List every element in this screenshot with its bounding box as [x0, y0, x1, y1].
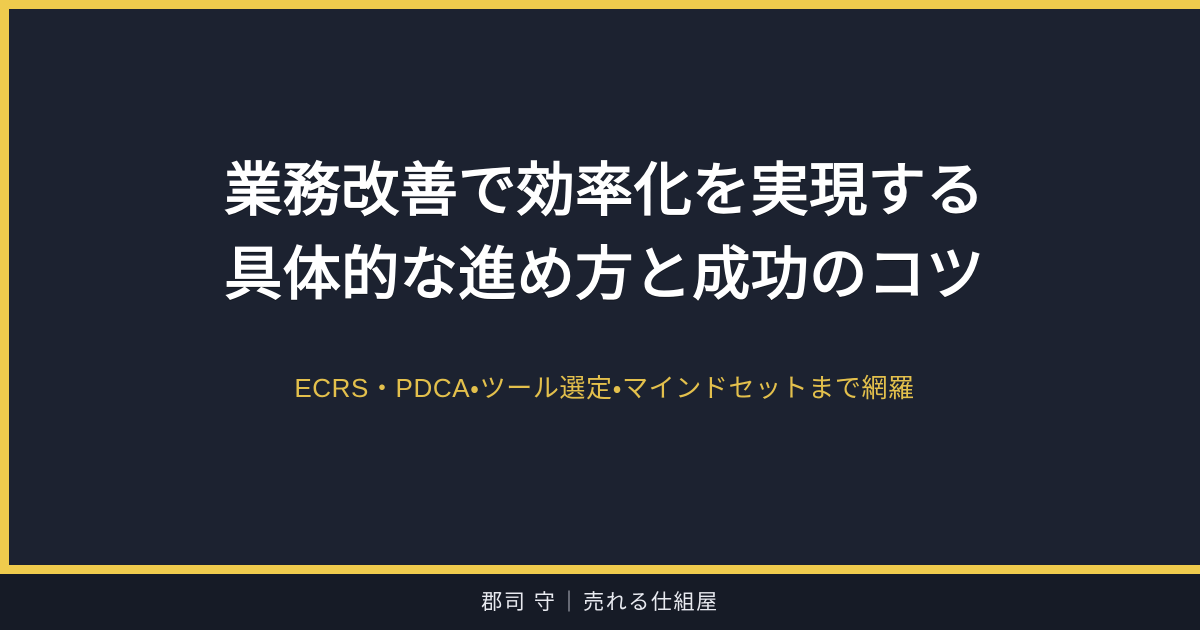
accent-border-bottom — [0, 565, 1200, 574]
page-title: 業務改善で効率化を実現する 具体的な進め方と成功のコツ — [9, 149, 1200, 317]
title-line-2: 具体的な進め方と成功のコツ — [9, 233, 1200, 317]
title-line-1: 業務改善で効率化を実現する — [9, 149, 1200, 233]
footer-credit: 郡司 守｜売れる仕組屋 — [481, 592, 718, 613]
accent-border-left — [0, 0, 9, 574]
footer-author: 郡司 守 — [481, 591, 556, 614]
footer-bar: 郡司 守｜売れる仕組屋 — [0, 574, 1200, 630]
subtitle: ECRS・PDCA・ツール選定・マインドセットまで網羅 — [9, 369, 1200, 407]
ogp-card: 業務改善で効率化を実現する 具体的な進め方と成功のコツ ECRS・PDCA・ツー… — [0, 0, 1200, 630]
footer-brand: 売れる仕組屋 — [583, 591, 719, 614]
accent-border-top — [0, 0, 1200, 9]
card-stage: 業務改善で効率化を実現する 具体的な進め方と成功のコツ ECRS・PDCA・ツー… — [9, 9, 1200, 565]
footer-separator: ｜ — [557, 592, 584, 613]
